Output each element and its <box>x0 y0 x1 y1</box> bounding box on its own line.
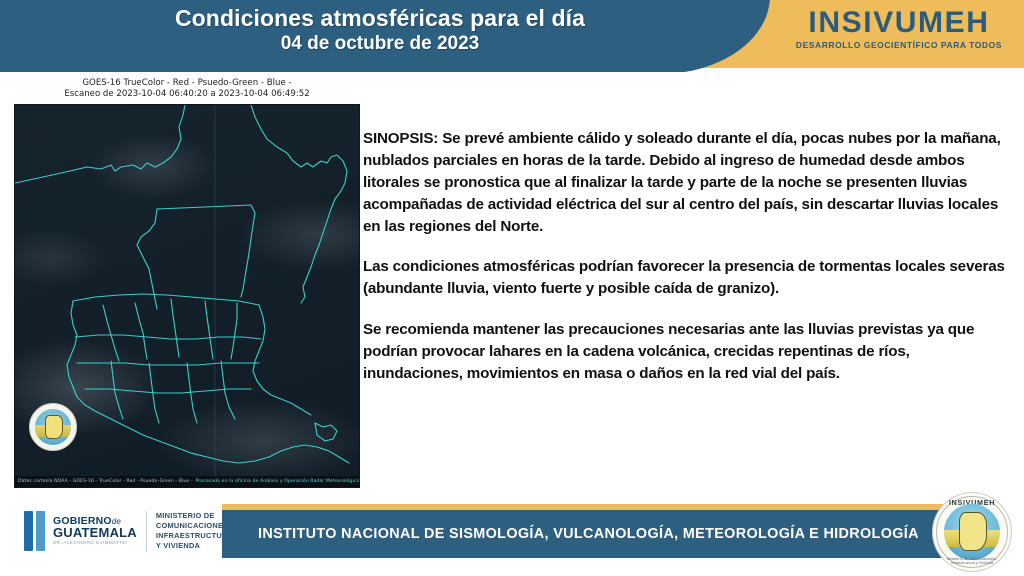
gov-line-2: GUATEMALA <box>53 526 137 539</box>
synopsis-paragraph-2: Las condiciones atmosféricas podrían fav… <box>363 256 1008 300</box>
satellite-caption-line2: Escaneo de 2023-10-04 06:40:20 a 2023-10… <box>14 89 360 100</box>
seal-guatemala-map-icon <box>45 415 64 439</box>
logo-divider <box>146 511 147 551</box>
satellite-credit-processing: Procesado en la oficina de Análisis y Op… <box>193 479 359 484</box>
synopsis-text-block: SINOPSIS: Se prevé ambiente cálido y sol… <box>363 128 1008 385</box>
seal-graphic <box>35 409 71 445</box>
satellite-credit-source: Datos cortesía NOAA - GOES-16 - TrueColo… <box>15 479 193 484</box>
satellite-panel: GOES-16 TrueColor - Red - Psuedo-Green -… <box>14 78 360 488</box>
footer-institute-bar: INSTITUTO NACIONAL DE SISMOLOGÍA, VULCAN… <box>222 504 974 558</box>
satellite-image: Datos cortesía NOAA - GOES-16 - TrueColo… <box>14 104 360 488</box>
page-footer: GOBIERNOde GUATEMALA DR. ALEJANDRO GIAMM… <box>0 490 1024 576</box>
institute-full-name: INSTITUTO NACIONAL DE SISMOLOGÍA, VULCAN… <box>222 526 919 542</box>
seal-core-graphic <box>944 504 1000 560</box>
page-header: Condiciones atmosféricas para el día 04 … <box>0 0 1024 72</box>
page-title: Condiciones atmosféricas para el día <box>40 6 720 32</box>
footer-blue-bar: INSTITUTO NACIONAL DE SISMOLOGÍA, VULCAN… <box>222 510 974 558</box>
gov-bars-icon <box>24 511 45 551</box>
satellite-insivumeh-seal <box>29 403 77 451</box>
header-title-block: Condiciones atmosféricas para el día 04 … <box>40 6 720 56</box>
seal-outer-ring: INSIVUMEH Ministerio de Comunicaciones, … <box>936 496 1008 568</box>
gov-bar-2 <box>36 511 45 551</box>
seal-guatemala-map <box>959 512 988 551</box>
synopsis-paragraph-1: SINOPSIS: Se prevé ambiente cálido y sol… <box>363 128 1008 237</box>
satellite-credit-strip: Datos cortesía NOAA - GOES-16 - TrueColo… <box>15 476 359 487</box>
synopsis-paragraph-3: Se recomienda mantener las precauciones … <box>363 319 1008 385</box>
satellite-caption-line1: GOES-16 TrueColor - Red - Psuedo-Green -… <box>14 78 360 89</box>
insivumeh-seal: INSIVUMEH Ministerio de Comunicaciones, … <box>932 492 1012 572</box>
gobierno-guatemala-logo: GOBIERNOde GUATEMALA DR. ALEJANDRO GIAMM… <box>24 508 233 554</box>
brand-name: INSIVUMEH <box>796 8 1002 38</box>
gov-logo-text: GOBIERNOde GUATEMALA DR. ALEJANDRO GIAMM… <box>53 516 137 546</box>
insivumeh-brand: INSIVUMEH DESARROLLO GEOCIENTÍFICO PARA … <box>796 8 1002 50</box>
gov-line-3: DR. ALEJANDRO GIAMMATTEI <box>53 541 137 546</box>
seal-bottom-label: Ministerio de Comunicaciones, Infraestru… <box>937 557 1007 565</box>
brand-tagline: DESARROLLO GEOCIENTÍFICO PARA TODOS <box>796 41 1002 50</box>
page-date: 04 de octubre de 2023 <box>40 32 720 57</box>
gov-bar-1 <box>24 511 33 551</box>
satellite-caption: GOES-16 TrueColor - Red - Psuedo-Green -… <box>14 78 360 104</box>
